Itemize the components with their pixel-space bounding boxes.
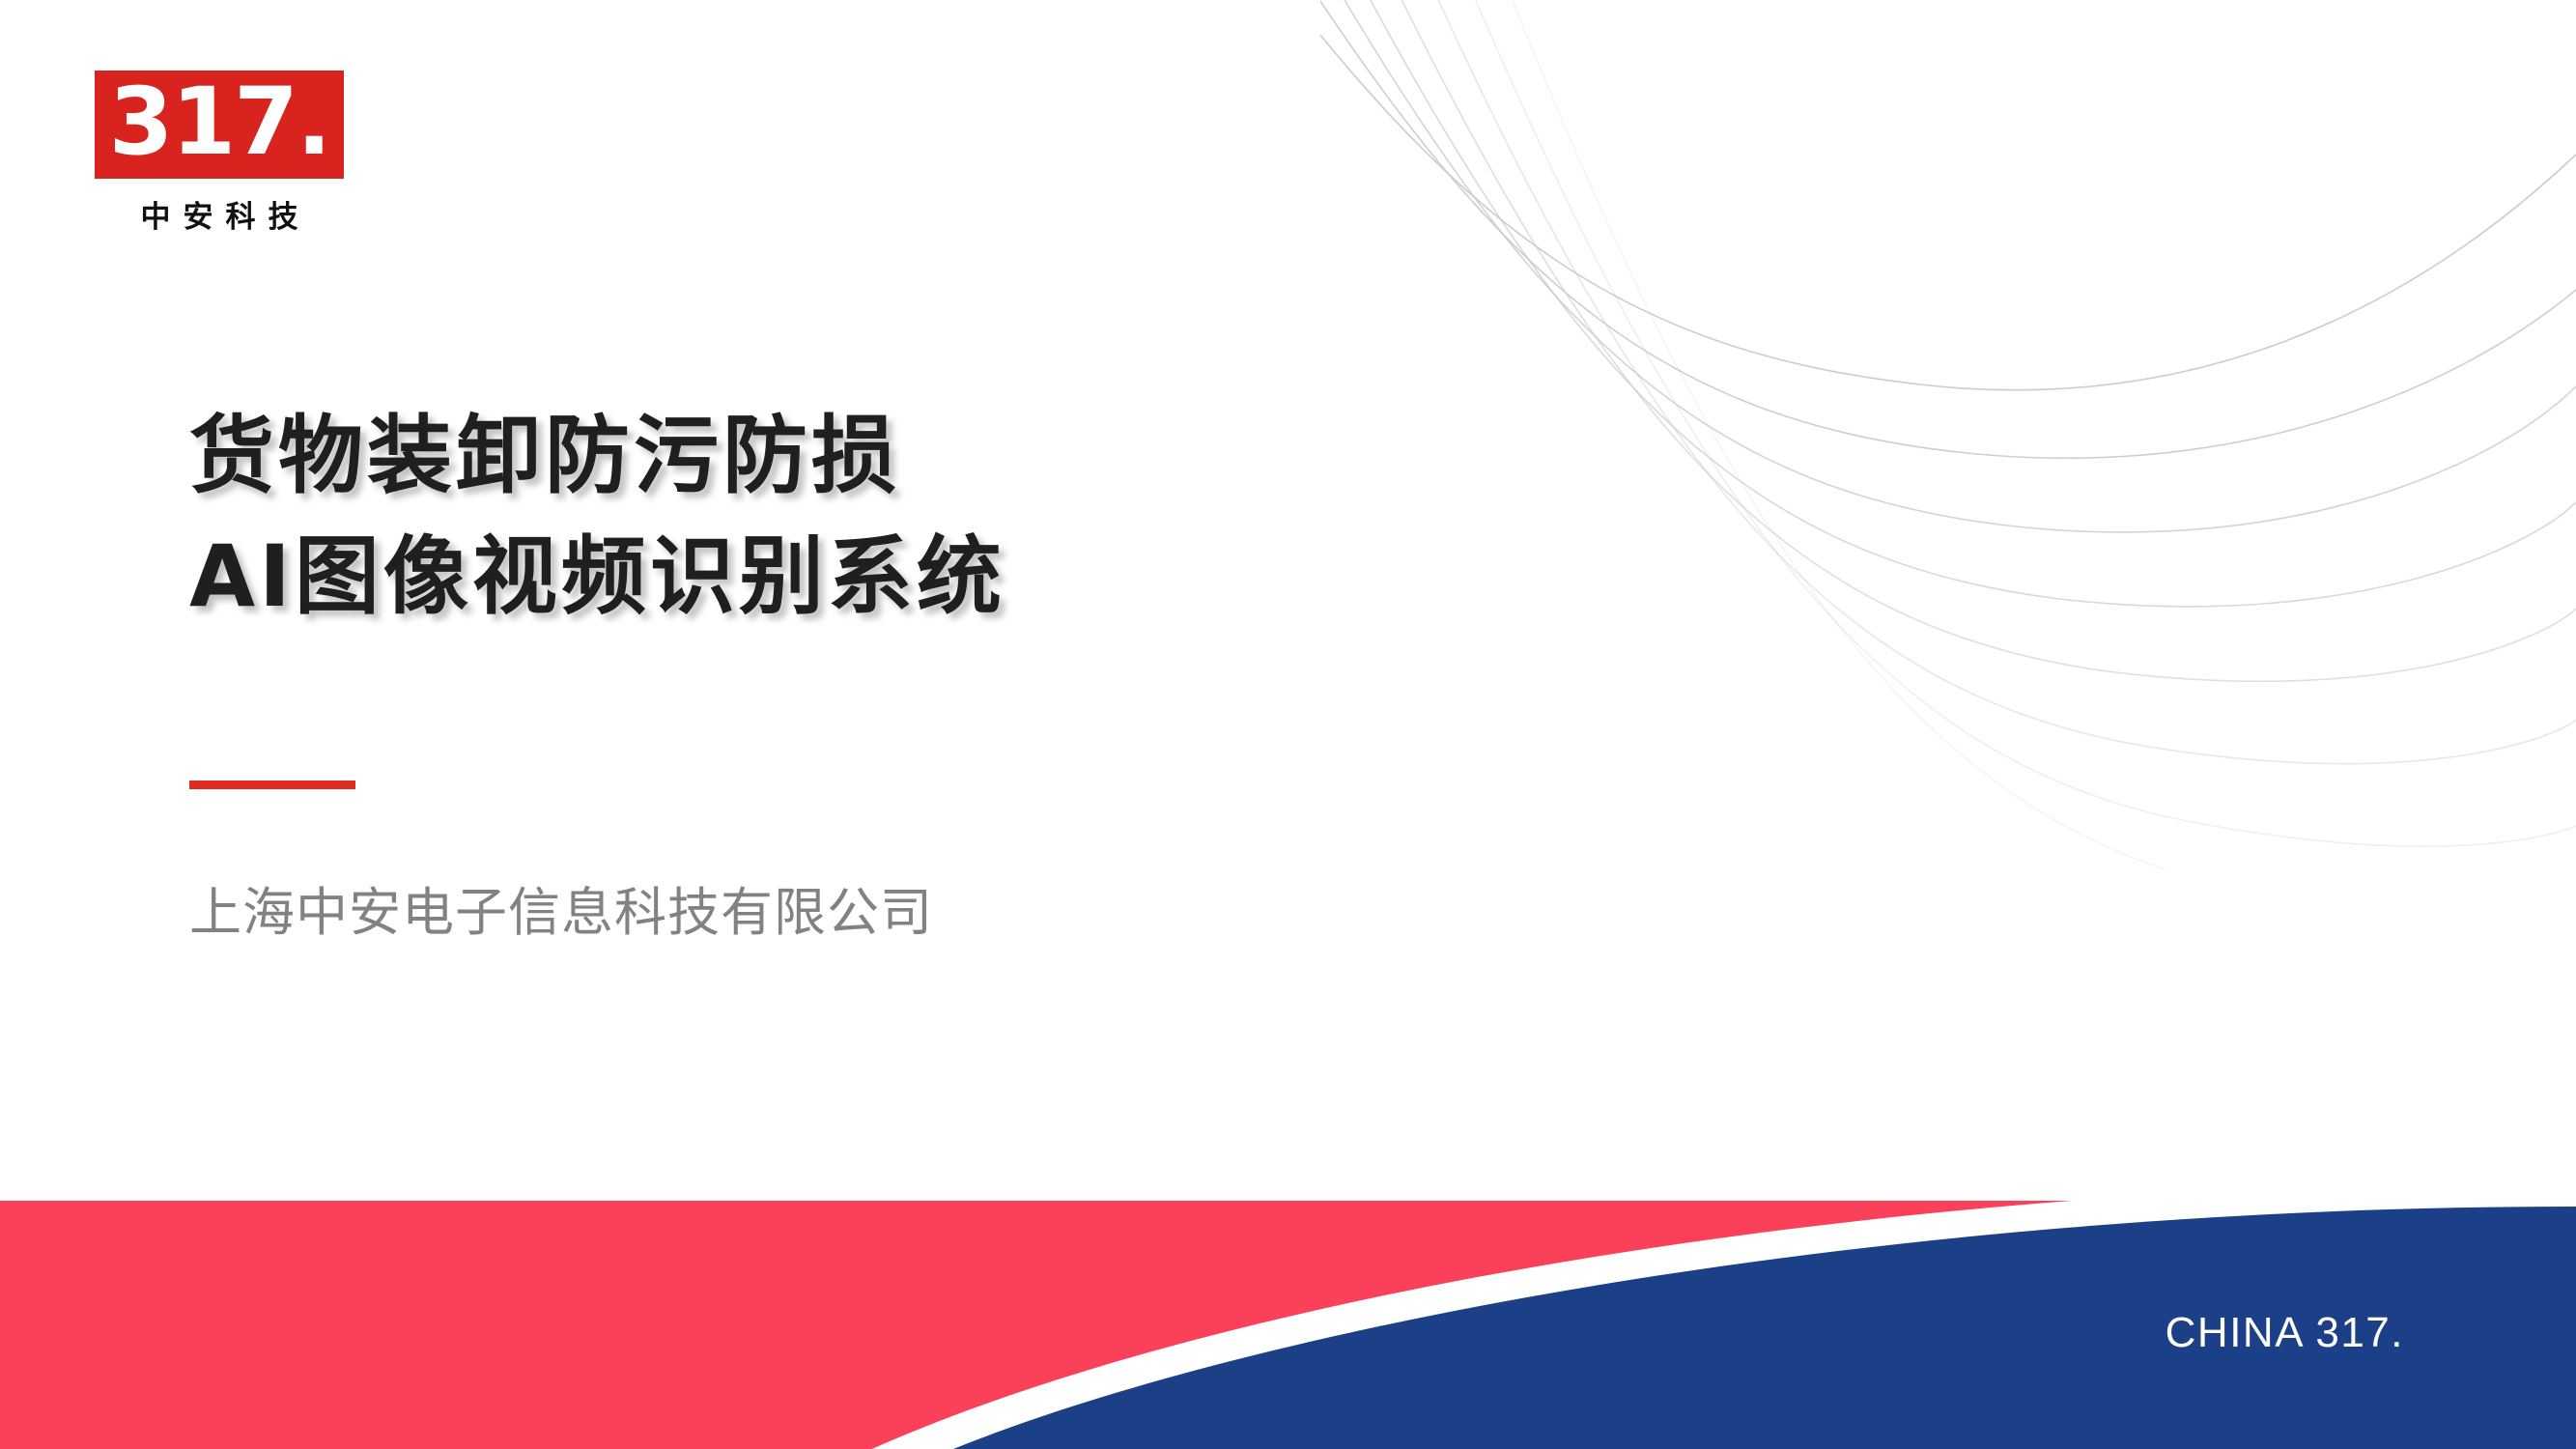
company-logo: 317. 中安科技 <box>95 71 348 236</box>
logo-mark-text: 317. <box>109 75 330 168</box>
title-line-1: 货物装卸防污防损 <box>189 396 1542 517</box>
footer-banner: CHINA 317. <box>0 1201 2576 1449</box>
logo-mark-box: 317. <box>95 71 344 179</box>
footer-brand-label: CHINA 317. <box>2166 1309 2404 1357</box>
title-line-2: AI图像视频识别系统 <box>189 517 1542 638</box>
subtitle-company-name: 上海中安电子信息科技有限公司 <box>189 869 933 946</box>
title-divider <box>189 781 355 789</box>
page-title: 货物装卸防污防损 AI图像视频识别系统 <box>189 396 1542 638</box>
logo-company-short-name: 中安科技 <box>95 192 344 236</box>
presentation-title-slide: 317. 中安科技 货物装卸防污防损 AI图像视频识别系统 上海中安电子信息科技… <box>0 0 2576 1449</box>
